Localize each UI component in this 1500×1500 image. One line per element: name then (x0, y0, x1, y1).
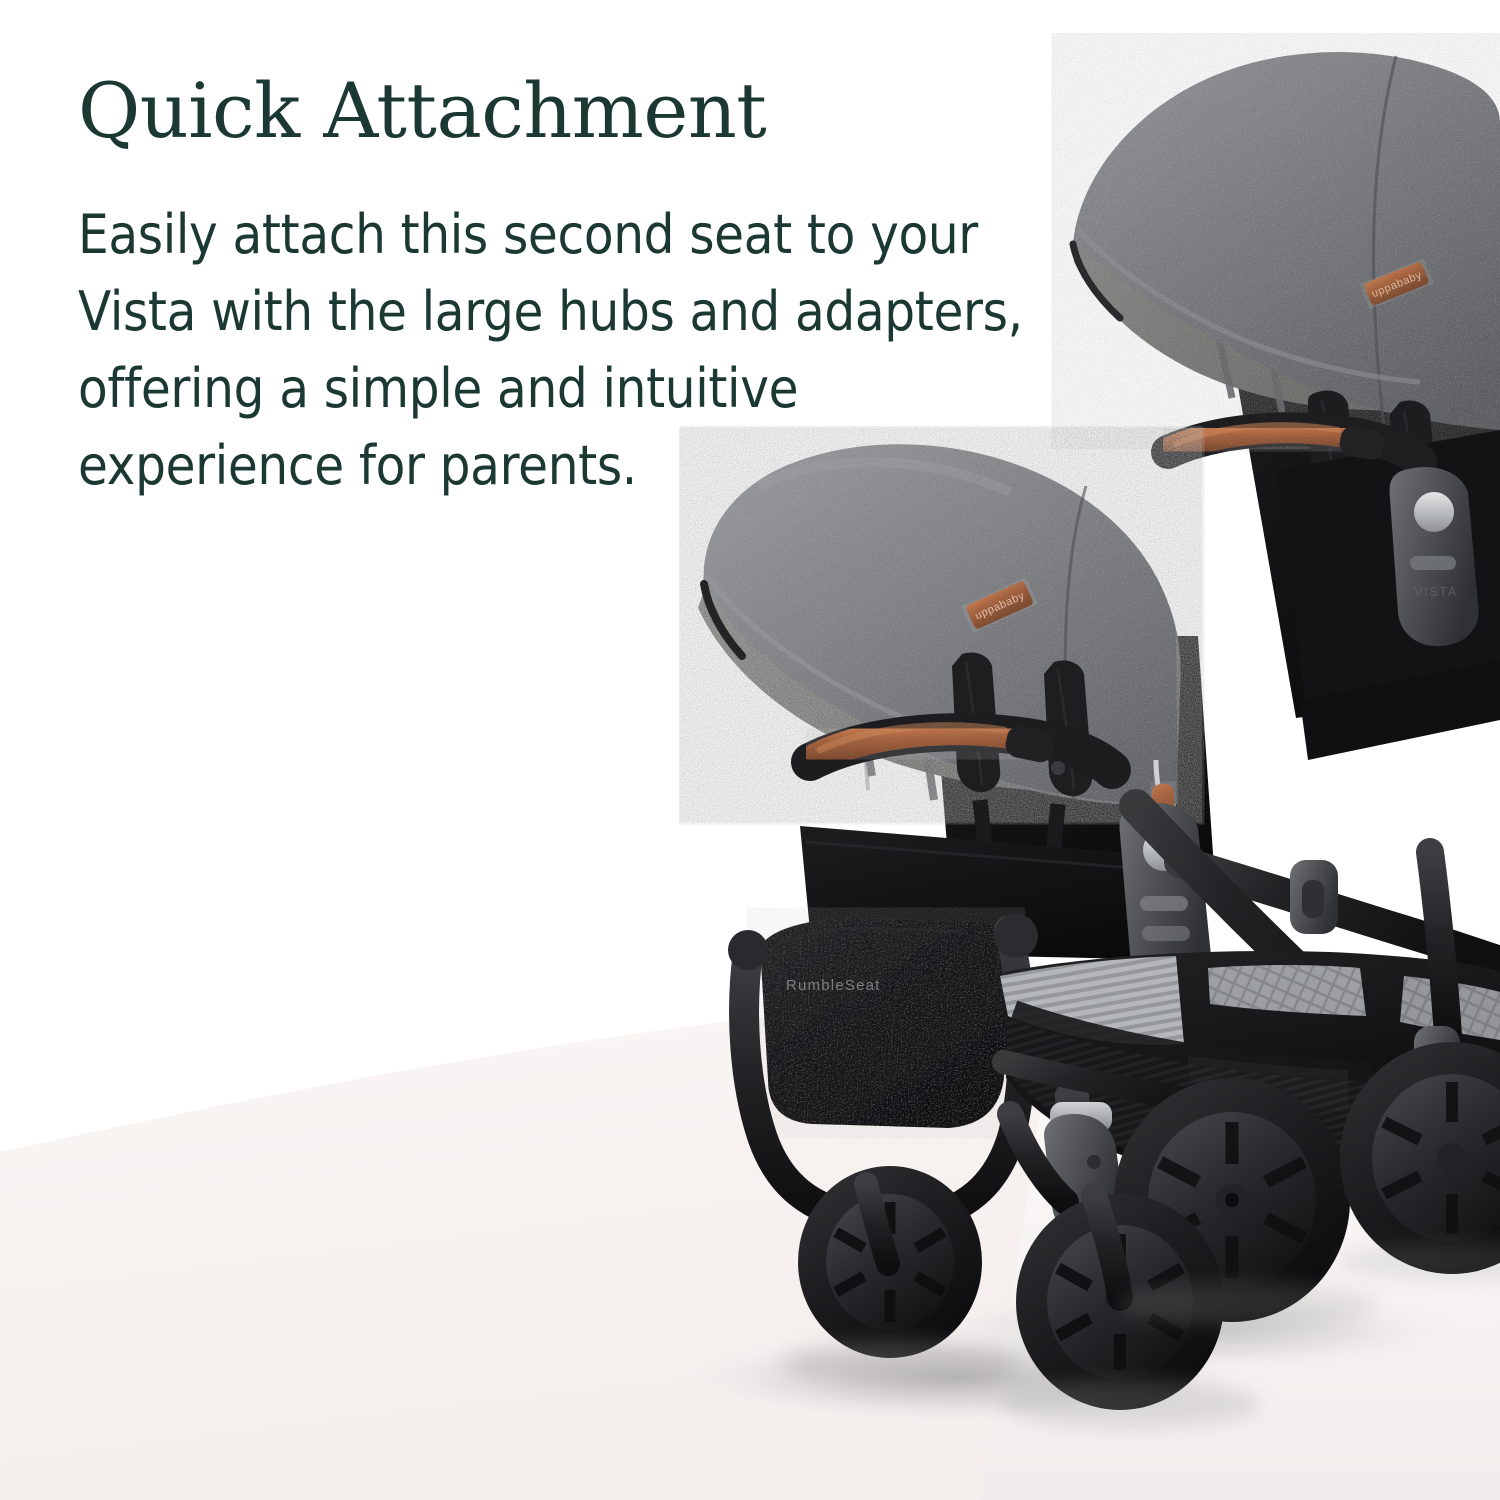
body-line-2: Vista with the large hubs and adapters, (78, 273, 978, 350)
body-line-4: experience for parents. (78, 427, 978, 504)
frame-handle-post (1430, 852, 1448, 1036)
copy-block: Quick Attachment Easily attach this seco… (78, 72, 1078, 504)
rear-hub-button[interactable] (1414, 492, 1454, 532)
promo-image: Quick Attachment Easily attach this seco… (0, 0, 1500, 1500)
wheel-shadow-2 (1000, 1380, 1260, 1428)
wheel-shadow-3 (1118, 1282, 1378, 1326)
basket-clip[interactable] (1290, 860, 1338, 934)
body-copy: Easily attach this second seat to your V… (78, 196, 978, 505)
hub-embossed-label: VISTA (1414, 584, 1458, 599)
wheel-shadow-4 (1335, 1242, 1500, 1282)
footcover-logo: RumbleSeat (786, 977, 881, 994)
wheel-shadow-1 (780, 1340, 1020, 1384)
front-foot-cover (760, 918, 1012, 1128)
rear-hub-adapter: VISTA (1390, 467, 1479, 646)
page-title: Quick Attachment (78, 72, 1078, 150)
rear-canopy (1073, 52, 1500, 430)
front-seat-hinge-right (994, 914, 1038, 958)
front-seat-hinge (728, 930, 768, 970)
swivel-pin (1087, 1155, 1101, 1169)
body-line-3: offering a simple and intuitive (78, 350, 978, 427)
body-line-1: Easily attach this second seat to your (78, 196, 978, 273)
